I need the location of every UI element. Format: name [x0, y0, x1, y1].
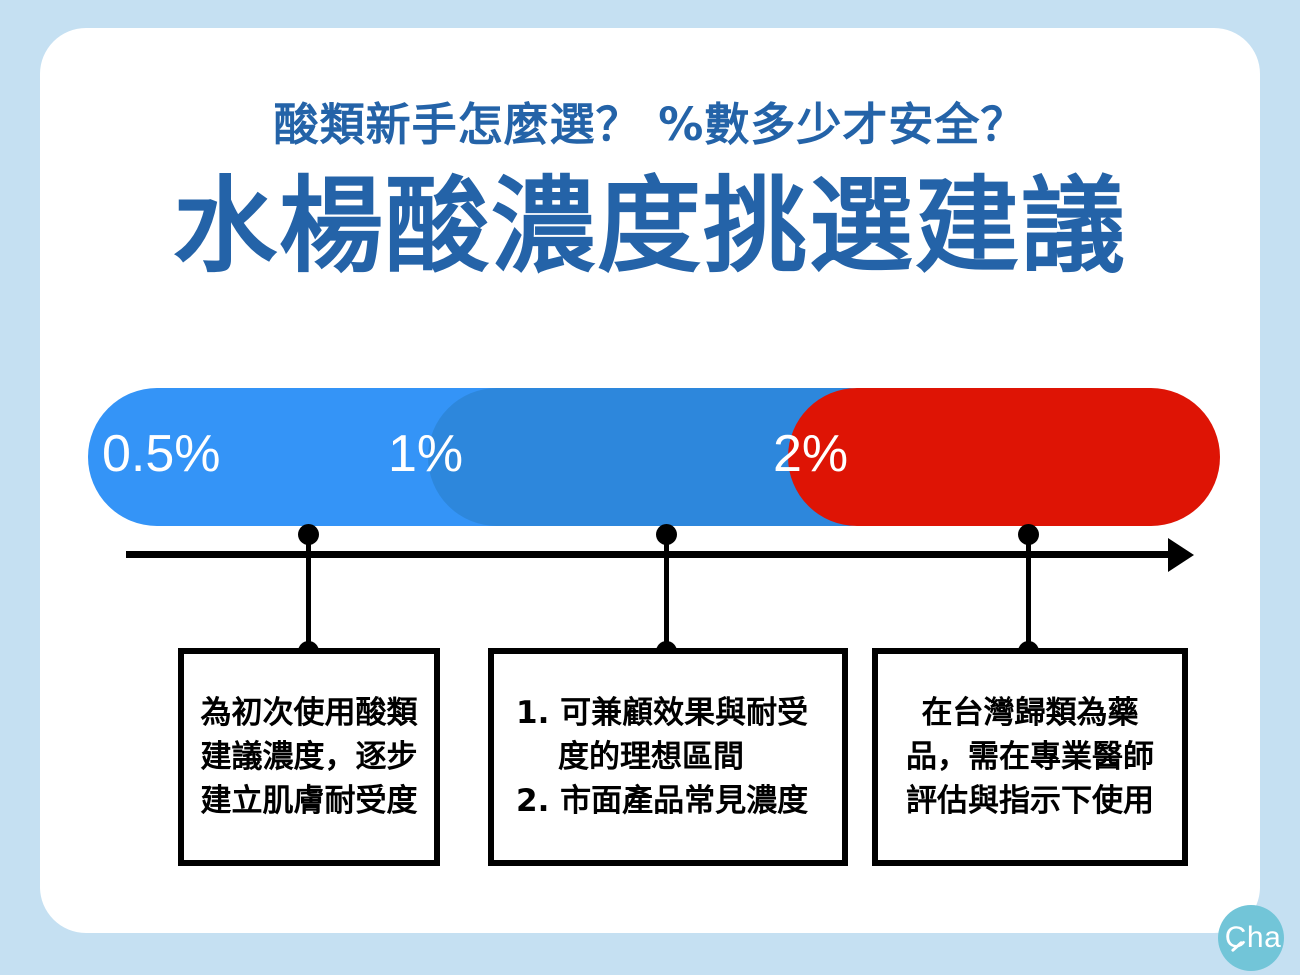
note-line: 2. 市面產品常見濃度 — [510, 779, 842, 823]
note-line: 建議濃度，逐步 — [184, 735, 434, 779]
note-box-high: 在台灣歸類為藥 品，需在專業醫師 評估與指示下使用 — [872, 648, 1188, 866]
connector-line-high — [1026, 534, 1031, 652]
connector-dot-top — [298, 524, 319, 545]
concentration-axis-line — [126, 551, 1180, 558]
bar-segment-high — [788, 388, 1220, 526]
note-line: 建立肌膚耐受度 — [184, 779, 434, 823]
bar-label-mid: 1% — [388, 428, 463, 480]
connector-line-low — [306, 534, 311, 652]
bar-label-low: 0.5% — [102, 428, 221, 480]
note-line: 1. 可兼顧效果與耐受 — [510, 691, 842, 735]
infographic-canvas: 酸類新手怎麼選？ %數多少才安全？ 水楊酸濃度挑選建議 0.5% 1% 2% 為… — [0, 0, 1300, 975]
note-line: 度的理想區間 — [510, 735, 842, 779]
note-line: 為初次使用酸類 — [184, 691, 434, 735]
note-line: 在台灣歸類為藥 — [878, 691, 1182, 735]
note-box-low: 為初次使用酸類 建議濃度，逐步 建立肌膚耐受度 — [178, 648, 440, 866]
connector-dot-top — [1018, 524, 1039, 545]
note-line: 評估與指示下使用 — [878, 779, 1182, 823]
subtitle: 酸類新手怎麼選？ %數多少才安全？ — [0, 88, 1300, 153]
bar-label-high: 2% — [773, 428, 848, 480]
note-box-mid: 1. 可兼顧效果與耐受 度的理想區間 2. 市面產品常見濃度 — [488, 648, 848, 866]
brand-logo: Cha — [1218, 905, 1284, 971]
note-line: 品，需在專業醫師 — [878, 735, 1182, 779]
concentration-bar: 0.5% 1% 2% — [88, 388, 1220, 526]
axis-arrow-icon — [1168, 538, 1194, 572]
connector-line-mid — [664, 534, 669, 652]
connector-dot-top — [656, 524, 677, 545]
page-title: 水楊酸濃度挑選建議 — [0, 168, 1300, 284]
